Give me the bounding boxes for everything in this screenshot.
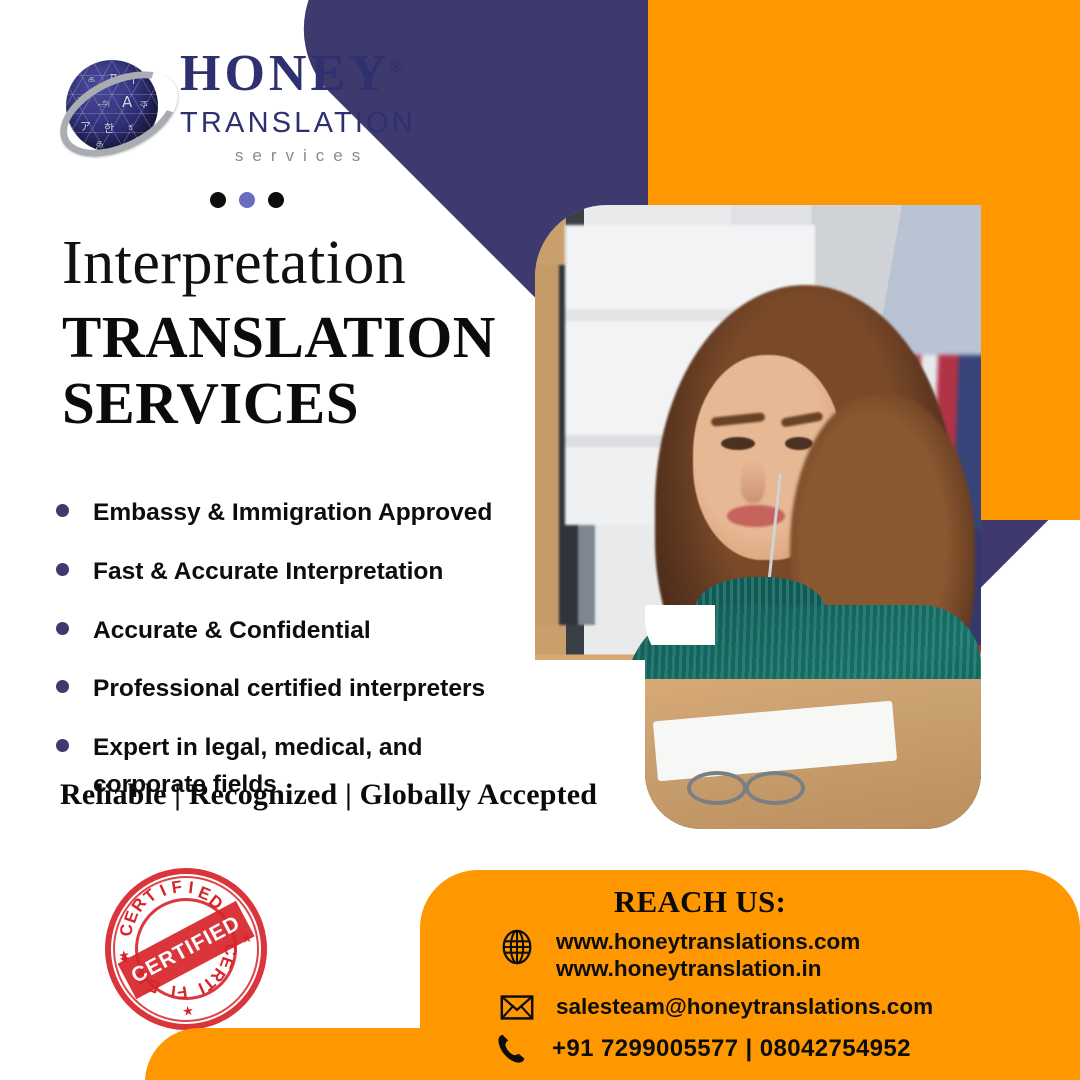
feature-text: Professional certified interpreters bbox=[93, 671, 485, 708]
list-item: Fast & Accurate Interpretation bbox=[56, 554, 536, 591]
envelope-icon bbox=[498, 988, 536, 1026]
logo-translation-text: TRANSLATION bbox=[180, 109, 416, 138]
website-links: www.honeytranslations.com www.honeytrans… bbox=[556, 928, 860, 983]
stamp-arc-char: C bbox=[117, 923, 138, 937]
feature-text: Fast & Accurate Interpretation bbox=[93, 554, 443, 591]
hero-photo bbox=[535, 205, 981, 829]
title-bold-line-1: TRANSLATION bbox=[62, 304, 532, 370]
globe-logo-icon: க म ا ગ அ A ক ア 한 ಕ த bbox=[58, 52, 166, 160]
page-title: Interpretation TRANSLATION SERVICES bbox=[62, 232, 532, 436]
certified-stamp-icon: CERTIFIEDCERTIFIED★★★★ CERTIFIED bbox=[95, 858, 278, 1041]
bullet-icon bbox=[56, 680, 69, 693]
contact-panel-content: REACH US: www.honeytranslations.com www.… bbox=[420, 870, 1080, 1080]
phone-icon bbox=[494, 1030, 532, 1068]
website-1[interactable]: www.honeytranslations.com bbox=[556, 928, 860, 955]
feature-list: Embassy & Immigration Approved Fast & Ac… bbox=[56, 495, 536, 826]
email-address[interactable]: salesteam@honeytranslations.com bbox=[556, 993, 933, 1020]
hero-photo-lower bbox=[645, 645, 981, 829]
website-2[interactable]: www.honeytranslation.in bbox=[556, 955, 860, 982]
registered-mark-icon: ® bbox=[391, 59, 403, 76]
bullet-icon bbox=[56, 739, 69, 752]
dot-3 bbox=[268, 192, 284, 208]
contact-heading: REACH US: bbox=[420, 884, 980, 920]
photo-eye-right bbox=[785, 437, 813, 450]
logo-services-text: services bbox=[180, 147, 416, 164]
photo-eye-left bbox=[721, 437, 755, 450]
bullet-icon bbox=[56, 622, 69, 635]
photo-nose bbox=[741, 461, 765, 503]
phone-numbers[interactable]: +91 7299005577 | 08042754952 bbox=[552, 1034, 911, 1063]
title-script-line: Interpretation bbox=[62, 232, 532, 294]
contact-row-email[interactable]: salesteam@honeytranslations.com bbox=[498, 988, 933, 1026]
list-item: Professional certified interpreters bbox=[56, 671, 536, 708]
stamp-star-icon: ★ bbox=[181, 1002, 195, 1019]
hero-photo-upper bbox=[535, 205, 981, 660]
decorative-dots bbox=[210, 192, 284, 208]
bullet-icon bbox=[56, 504, 69, 517]
brand-logo[interactable]: க म ا ગ அ A ক ア 한 ಕ த HONEY® TRANSLATION… bbox=[58, 48, 416, 164]
tagline: Reliable | Recognized | Globally Accepte… bbox=[60, 778, 597, 812]
bullet-icon bbox=[56, 563, 69, 576]
contact-row-phone[interactable]: +91 7299005577 | 08042754952 bbox=[494, 1030, 911, 1068]
hero-photo-image bbox=[535, 205, 981, 660]
dot-2 bbox=[239, 192, 255, 208]
logo-wordmark: HONEY® TRANSLATION services bbox=[180, 48, 416, 164]
poster-canvas: க म ا ગ அ A ক ア 한 ಕ த HONEY® TRANSLATION… bbox=[0, 0, 1080, 1080]
globe-icon bbox=[498, 928, 536, 966]
logo-honey-text: HONEY® bbox=[180, 48, 402, 100]
dot-1 bbox=[210, 192, 226, 208]
feature-text: Accurate & Confidential bbox=[93, 613, 371, 650]
logo-honey-label: HONEY bbox=[180, 45, 391, 102]
photo-glasses bbox=[687, 767, 817, 801]
list-item: Accurate & Confidential bbox=[56, 613, 536, 650]
list-item: Embassy & Immigration Approved bbox=[56, 495, 536, 532]
feature-text: Embassy & Immigration Approved bbox=[93, 495, 492, 532]
title-bold-line-2: SERVICES bbox=[62, 370, 532, 436]
hero-photo-image-lower bbox=[645, 645, 981, 829]
contact-row-website[interactable]: www.honeytranslations.com www.honeytrans… bbox=[498, 928, 860, 983]
